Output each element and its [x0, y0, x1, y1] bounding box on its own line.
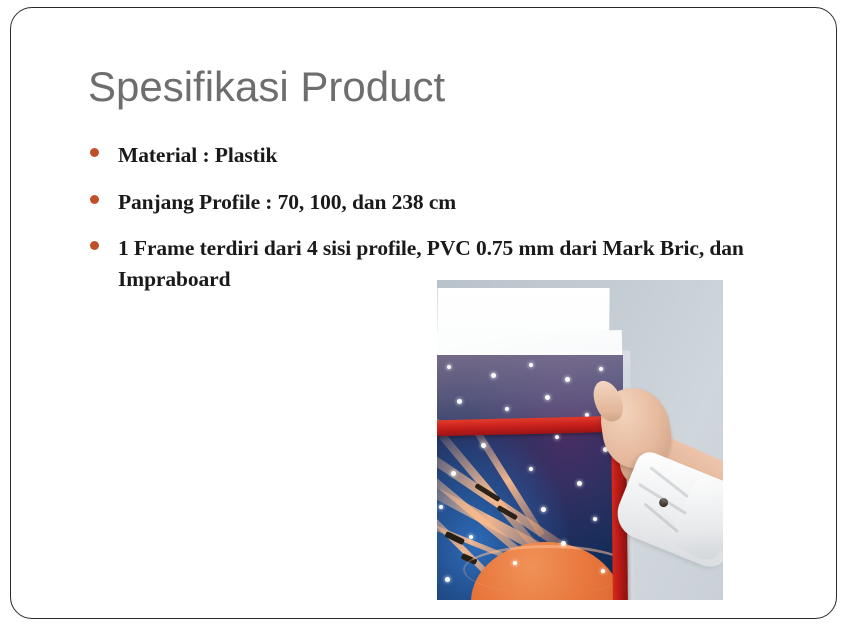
list-item: Material : Plastik [90, 140, 790, 171]
poster-star [561, 541, 566, 546]
page-title: Spesifikasi Product [88, 66, 445, 108]
poster-star [541, 507, 546, 512]
bullet-dot-icon [90, 195, 99, 204]
poster-star [481, 443, 486, 448]
bullet-marker-wrap [90, 187, 118, 204]
poster-star [555, 435, 559, 439]
poster-star [445, 577, 450, 582]
product-photo [437, 280, 723, 600]
bullet-marker-wrap [90, 233, 118, 250]
poster-planet-ring [463, 545, 623, 594]
poster-star [593, 517, 597, 521]
poster-star [577, 481, 582, 486]
list-item: Panjang Profile : 70, 100, dan 238 cm [90, 187, 790, 218]
poster-star [601, 569, 605, 573]
bullet-marker-wrap [90, 140, 118, 157]
poster-star [513, 561, 517, 565]
poster-star [529, 467, 533, 471]
poster-star [451, 471, 456, 476]
list-item-label: Material : Plastik [118, 140, 790, 171]
poster-star [439, 505, 443, 509]
bullet-dot-icon [90, 241, 99, 250]
presentation-slide: Spesifikasi Product Material : Plastik P… [0, 0, 847, 635]
list-item-label: Panjang Profile : 70, 100, dan 238 cm [118, 187, 790, 218]
poster-star [469, 535, 473, 539]
bullet-dot-icon [90, 148, 99, 157]
